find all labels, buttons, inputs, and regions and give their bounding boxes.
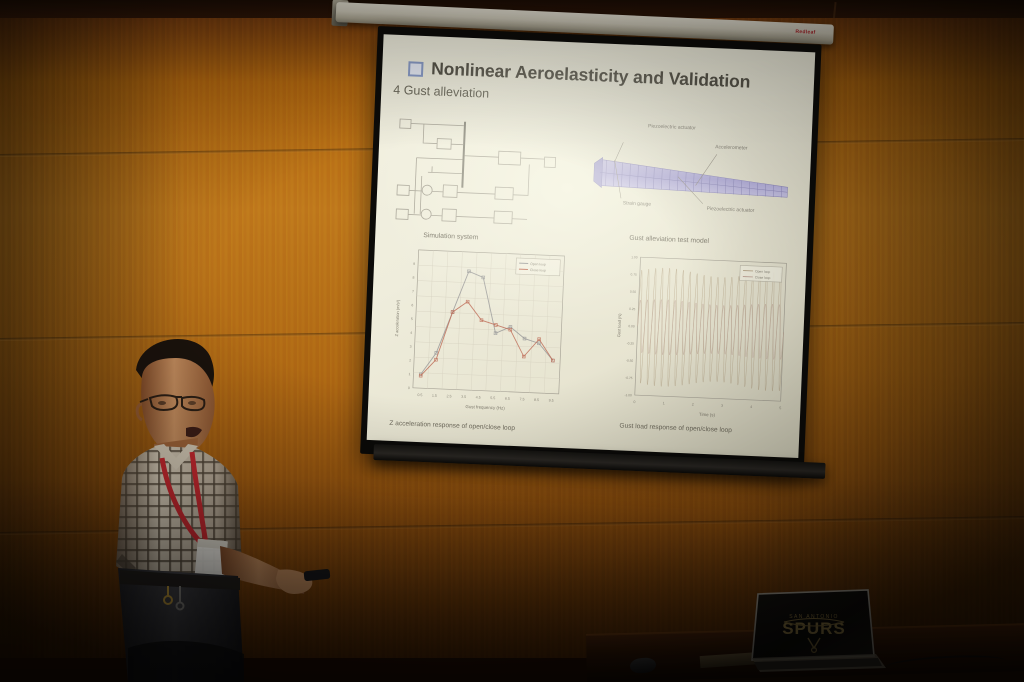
svg-text:5: 5 xyxy=(779,406,781,410)
laptop[interactable]: SAN ANTONIO SPURS xyxy=(748,588,890,674)
svg-text:0.25: 0.25 xyxy=(629,307,636,311)
presenter xyxy=(92,318,342,682)
svg-text:9: 9 xyxy=(413,262,415,266)
svg-text:0.00: 0.00 xyxy=(628,324,635,328)
simulation-block-diagram xyxy=(389,113,579,241)
svg-text:Close loop: Close loop xyxy=(755,275,771,280)
svg-text:Gust load (N): Gust load (N) xyxy=(616,313,622,338)
svg-text:Gust frequency (Hz): Gust frequency (Hz) xyxy=(465,404,505,411)
svg-text:-1.00: -1.00 xyxy=(624,393,632,397)
svg-text:Time (s): Time (s) xyxy=(699,412,716,418)
svg-text:4: 4 xyxy=(410,331,412,335)
wing-label-strain-gauge: Strain gauge xyxy=(623,200,652,207)
svg-text:9.5: 9.5 xyxy=(549,398,554,402)
svg-text:6.5: 6.5 xyxy=(505,397,510,401)
gust-load-chart: 012345-1.00-0.75-0.50-0.250.000.250.500.… xyxy=(608,248,795,430)
block-diagram-caption: Simulation system xyxy=(423,232,478,241)
svg-text:5: 5 xyxy=(411,317,413,321)
svg-text:2: 2 xyxy=(409,358,411,362)
wing-test-model-figure xyxy=(590,123,802,242)
svg-text:4: 4 xyxy=(750,405,752,409)
svg-text:3: 3 xyxy=(410,345,412,349)
svg-text:1: 1 xyxy=(663,401,665,405)
svg-text:-0.50: -0.50 xyxy=(626,359,634,363)
svg-text:1.00: 1.00 xyxy=(631,255,638,259)
svg-text:0: 0 xyxy=(408,386,410,390)
svg-text:0: 0 xyxy=(633,400,635,404)
svg-text:1: 1 xyxy=(408,372,410,376)
svg-text:4.5: 4.5 xyxy=(476,395,481,399)
z-acceleration-chart-caption: Z acceleration response of open/close lo… xyxy=(389,420,515,432)
projected-slide: Nonlinear Aeroelasticity and Validation … xyxy=(367,34,816,458)
presentation-photo-scene: Redleaf Nonlinear Aeroelasticity and Val… xyxy=(0,0,1024,682)
svg-text:Open loop: Open loop xyxy=(755,269,771,274)
svg-text:Z acceleration (m/s²): Z acceleration (m/s²) xyxy=(394,299,401,337)
projector-screen-frame: Nonlinear Aeroelasticity and Validation … xyxy=(360,26,822,472)
svg-text:7.5: 7.5 xyxy=(519,397,524,401)
svg-text:7: 7 xyxy=(412,289,414,293)
svg-text:1.5: 1.5 xyxy=(432,394,437,398)
svg-text:5.5: 5.5 xyxy=(490,396,495,400)
svg-text:8.5: 8.5 xyxy=(534,398,539,402)
svg-text:-0.75: -0.75 xyxy=(625,376,633,380)
svg-text:3: 3 xyxy=(721,404,723,408)
svg-text:0.50: 0.50 xyxy=(630,290,637,294)
svg-text:6: 6 xyxy=(411,303,413,307)
z-acceleration-chart: 0.51.52.53.54.55.56.57.58.59.50123456789… xyxy=(386,241,573,423)
svg-text:SPURS: SPURS xyxy=(782,619,846,638)
square-bullet-icon xyxy=(408,61,424,77)
slide-subtitle: 4 Gust alleviation xyxy=(393,83,489,101)
svg-text:2.5: 2.5 xyxy=(446,394,451,398)
svg-text:2: 2 xyxy=(692,402,694,406)
svg-text:0.75: 0.75 xyxy=(631,272,638,276)
svg-text:3.5: 3.5 xyxy=(461,395,466,399)
screen-brand-logo: Redleaf xyxy=(795,29,815,36)
svg-text:8: 8 xyxy=(413,276,415,280)
svg-text:0.5: 0.5 xyxy=(417,393,422,397)
svg-text:Close loop: Close loop xyxy=(530,268,546,273)
wing-label-accelerometer: Accelerometer xyxy=(715,144,747,151)
svg-text:-0.25: -0.25 xyxy=(627,341,635,345)
svg-text:Open loop: Open loop xyxy=(530,262,546,267)
